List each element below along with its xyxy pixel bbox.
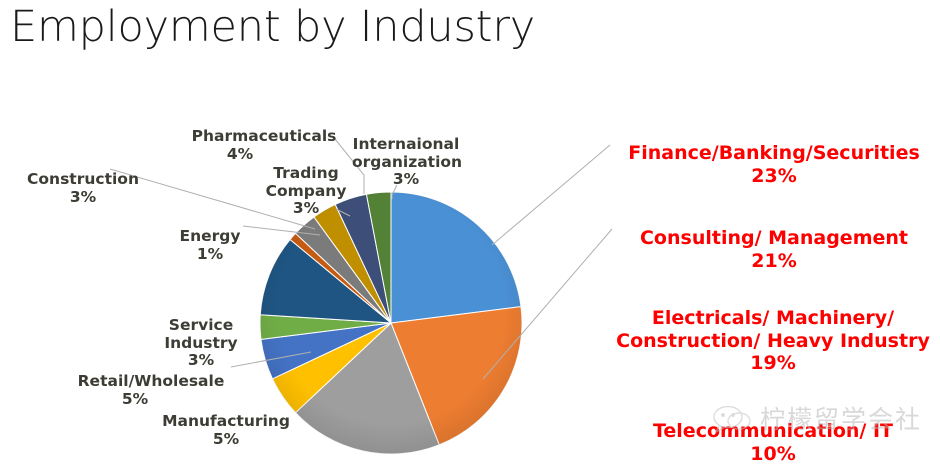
label-finance: Finance/Banking/Securities 23% — [614, 120, 934, 210]
label-international-organization-pct: 3% — [352, 171, 460, 188]
label-construction-pct: 3% — [18, 189, 148, 206]
label-electricals: Electricals/ Machinery/ Construction/ He… — [606, 285, 940, 397]
wechat-chat-bubble-icon — [712, 404, 752, 434]
label-trading-company-pct: 3% — [265, 200, 347, 217]
label-finance-pct: 23% — [614, 165, 934, 187]
label-construction: Construction 3% — [18, 154, 148, 223]
label-consulting-name: Consulting/ Management — [640, 227, 908, 249]
label-pharmaceuticals-name: Pharmaceuticals — [192, 127, 337, 145]
label-energy: Energy 1% — [176, 211, 244, 280]
watermark: 柠檬留学会社 — [712, 404, 922, 434]
label-telecom-pct: 10% — [606, 443, 940, 465]
label-energy-pct: 1% — [176, 246, 244, 263]
label-construction-name: Construction — [27, 170, 139, 188]
label-manufacturing-name: Manufacturing — [162, 412, 290, 430]
label-finance-name: Finance/Banking/Securities — [628, 142, 920, 164]
label-manufacturing: Manufacturing 5% — [162, 396, 290, 465]
label-trading-company-name: Trading Company — [266, 164, 347, 199]
label-retail-wholesale-name: Retail/Wholesale — [78, 372, 225, 390]
label-electricals-pct: 19% — [606, 352, 940, 374]
label-service-industry-name: Service Industry — [164, 316, 237, 351]
label-trading-company: Trading Company 3% — [265, 148, 347, 235]
label-international-organization: Internaional organization 3% — [352, 119, 460, 206]
label-electricals-name: Electricals/ Machinery/ Construction/ He… — [616, 307, 930, 351]
page-title: Employment by Industry — [10, 2, 535, 52]
chart-canvas: Employment by Industry — [0, 0, 940, 467]
label-energy-name: Energy — [180, 227, 241, 245]
label-consulting-pct: 21% — [614, 250, 934, 272]
label-consulting: Consulting/ Management 21% — [614, 205, 934, 295]
label-international-organization-name: Internaional organization — [352, 135, 462, 170]
label-manufacturing-pct: 5% — [162, 431, 290, 448]
watermark-text: 柠檬留学会社 — [760, 407, 922, 432]
